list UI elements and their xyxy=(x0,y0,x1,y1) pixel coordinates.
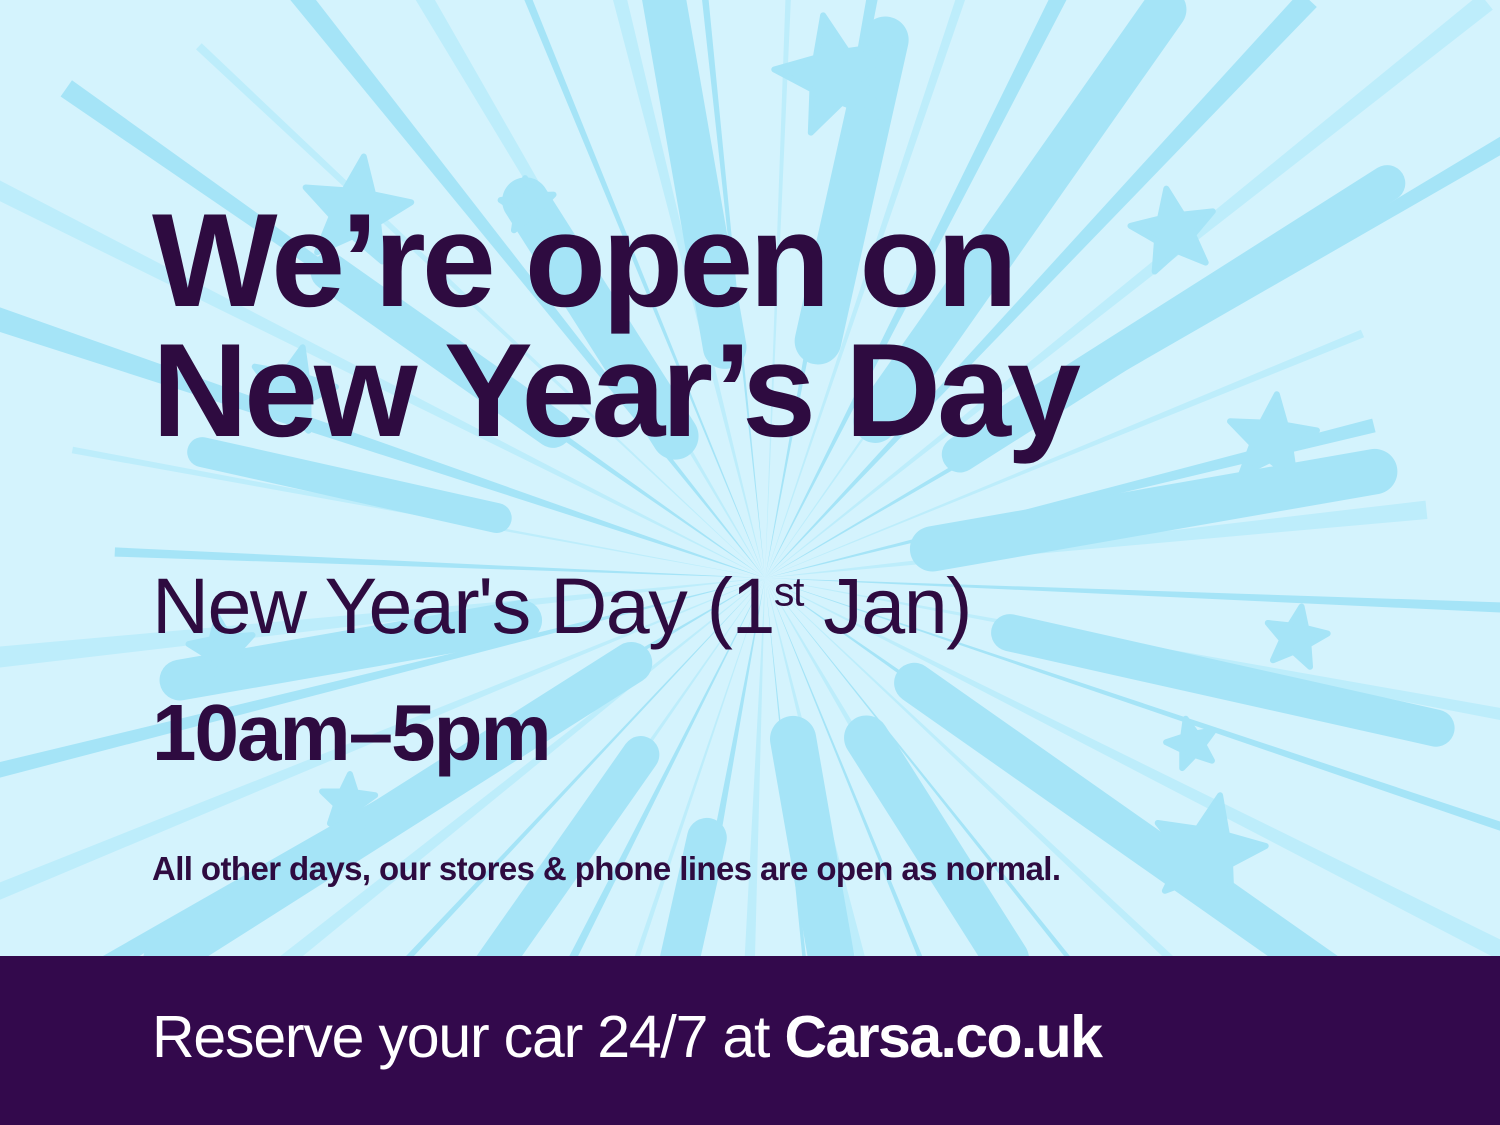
opening-date-prefix: New Year's Day (1 xyxy=(152,561,774,650)
normal-hours-note: All other days, our stores & phone lines… xyxy=(152,852,1060,885)
opening-date-suffix: Jan) xyxy=(803,561,971,650)
opening-date-ordinal: st xyxy=(774,569,803,615)
promo-banner: We’re open on New Year’s Day New Year's … xyxy=(0,0,1500,1125)
headline-line-2: New Year’s Day xyxy=(152,326,1372,456)
footer-bar: Reserve your car 24/7 at Carsa.co.uk xyxy=(0,956,1500,1125)
headline-line-1: We’re open on xyxy=(152,196,1372,326)
opening-hours: 10am–5pm xyxy=(152,693,550,773)
page-title: We’re open on New Year’s Day xyxy=(152,196,1372,457)
footer-cta: Reserve your car 24/7 at Carsa.co.uk xyxy=(152,1008,1101,1067)
opening-date: New Year's Day (1st Jan) xyxy=(152,566,971,645)
footer-cta-prefix: Reserve your car 24/7 at xyxy=(152,1004,784,1070)
banner-content: We’re open on New Year’s Day New Year's … xyxy=(0,0,1500,956)
brand-name[interactable]: Carsa.co.uk xyxy=(784,1004,1101,1070)
